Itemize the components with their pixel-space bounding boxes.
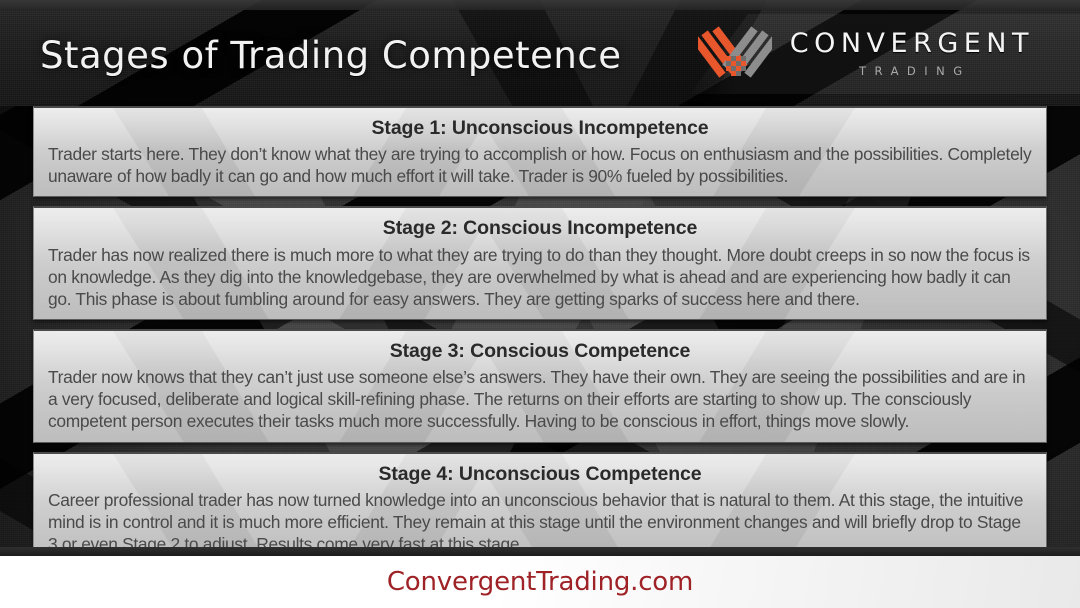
brand-logo[interactable]: CONVERGENT TRADING (698, 24, 1034, 84)
brand-subtitle: TRADING (790, 64, 1034, 78)
header-bar: Stages of Trading Competence (0, 0, 1080, 106)
footer-bar: ConvergentTrading.com (0, 556, 1080, 608)
stages-list: Stage 1: Unconscious Incompetence Trader… (33, 106, 1047, 574)
brand-wordmark: CONVERGENT TRADING (790, 30, 1034, 78)
slide-root: Stages of Trading Competence (0, 0, 1080, 608)
stage-heading: Stage 3: Conscious Competence (48, 337, 1032, 365)
stage-body: Trader starts here. They don’t know what… (48, 143, 1032, 187)
website-link[interactable]: ConvergentTrading.com (387, 567, 693, 597)
header-top-strip (0, 0, 1080, 10)
stage-panel-3[interactable]: Stage 3: Conscious Competence Trader now… (33, 329, 1047, 443)
stage-body: Trader has now realized there is much mo… (48, 244, 1032, 310)
stage-body: Career professional trader has now turne… (48, 489, 1032, 555)
brand-name: CONVERGENT (790, 30, 1034, 57)
page-title: Stages of Trading Competence (40, 34, 621, 77)
convergent-v-chevron-logo-icon (698, 24, 772, 84)
footer-divider (0, 547, 1080, 556)
stage-heading: Stage 1: Unconscious Incompetence (48, 114, 1032, 142)
stage-heading: Stage 4: Unconscious Competence (48, 460, 1032, 488)
stage-heading: Stage 2: Conscious Incompetence (48, 214, 1032, 242)
stage-body: Trader now knows that they can’t just us… (48, 366, 1032, 432)
stage-panel-1[interactable]: Stage 1: Unconscious Incompetence Trader… (33, 106, 1047, 197)
stage-panel-2[interactable]: Stage 2: Conscious Incompetence Trader h… (33, 206, 1047, 320)
